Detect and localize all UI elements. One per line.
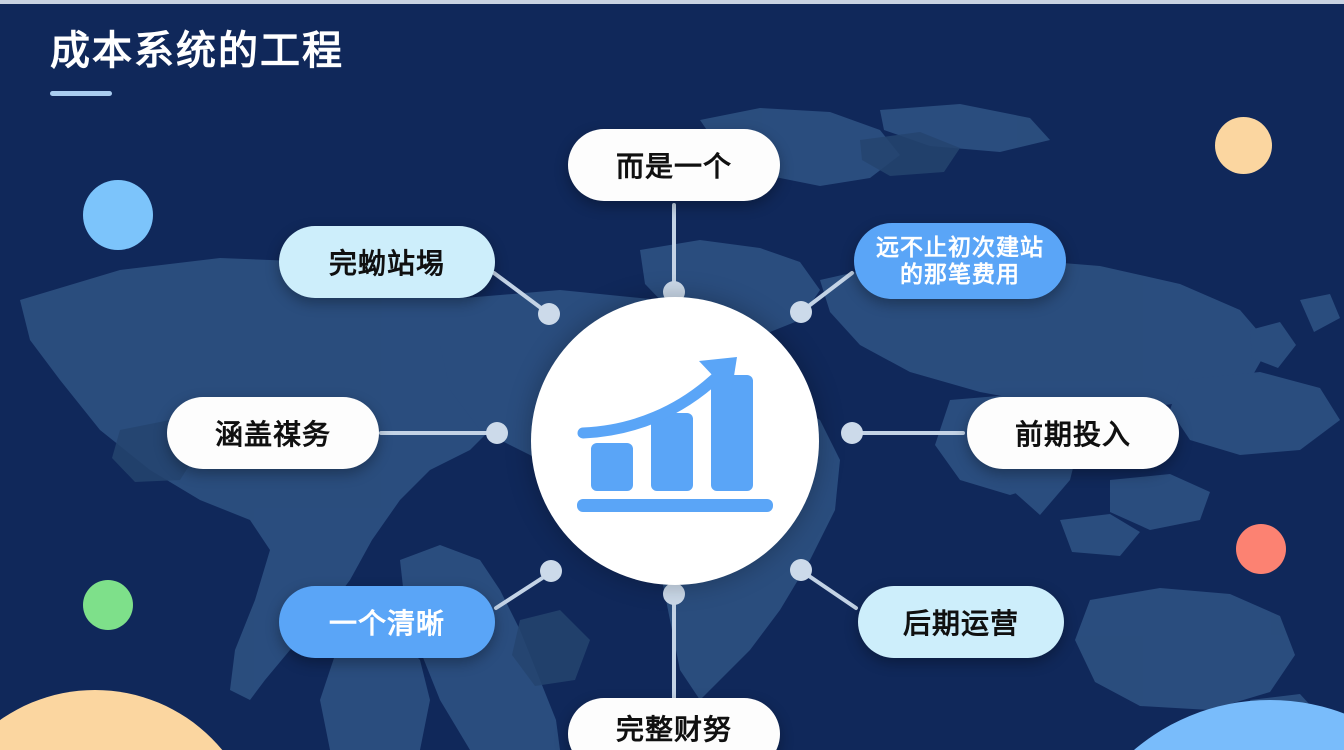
node-lower-left-label: 一个清晰 bbox=[329, 602, 445, 642]
title-block: 成本系统的工程 bbox=[50, 28, 344, 96]
node-lower-left[interactable]: 一个清晰 bbox=[279, 586, 495, 658]
node-upper-right-label: 远不止初次建站 的那笔费用 bbox=[876, 234, 1044, 288]
node-lower-right-label: 后期运营 bbox=[903, 602, 1019, 642]
node-left[interactable]: 涵盖禖务 bbox=[167, 397, 379, 469]
center-growth-node bbox=[531, 297, 819, 585]
node-upper-left[interactable]: 完蚴站埸 bbox=[279, 226, 495, 298]
node-upper-right[interactable]: 远不止初次建站 的那笔费用 bbox=[854, 223, 1066, 299]
circle-blue-top-left bbox=[83, 180, 153, 250]
circle-peach-top-right bbox=[1215, 117, 1272, 174]
node-right[interactable]: 前期投入 bbox=[967, 397, 1179, 469]
node-bottom[interactable]: 完整财努 bbox=[568, 698, 780, 750]
top-edge-strip bbox=[0, 0, 1344, 4]
page-title: 成本系统的工程 bbox=[50, 28, 344, 74]
slide-canvas: 而是一个 完蚴站埸 远不止初次建站 的那笔费用 涵盖禖务 前期投入 一个清晰 后… bbox=[0, 0, 1344, 750]
node-right-label: 前期投入 bbox=[1015, 413, 1131, 453]
node-upper-left-label: 完蚴站埸 bbox=[329, 242, 445, 282]
circle-salmon-right bbox=[1236, 524, 1286, 574]
node-top[interactable]: 而是一个 bbox=[568, 129, 780, 201]
node-bottom-label: 完整财努 bbox=[616, 708, 732, 748]
node-lower-right[interactable]: 后期运营 bbox=[858, 586, 1064, 658]
growth-bar-chart-icon bbox=[571, 351, 779, 531]
node-left-label: 涵盖禖务 bbox=[215, 413, 331, 453]
circle-green-bottom-left bbox=[83, 580, 133, 630]
title-underline-accent bbox=[50, 91, 112, 96]
node-top-label: 而是一个 bbox=[616, 145, 732, 185]
